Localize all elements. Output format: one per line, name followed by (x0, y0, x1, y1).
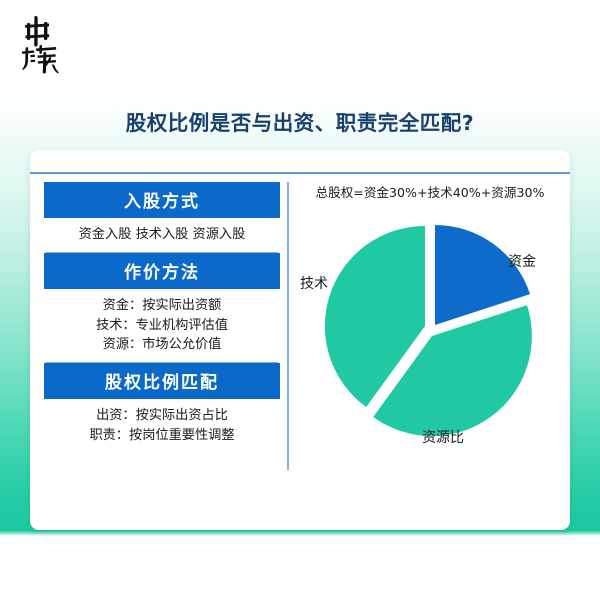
pie-label-capital: 资金 (508, 251, 536, 271)
pie-chart-svg (296, 207, 564, 457)
page-title: 股权比例是否与出资、职责完全匹配? (0, 106, 600, 136)
pie-chart: 资金 技术 资源比 (296, 207, 564, 457)
section-body-equity-match: 出资：按实际出资占比 职责：按岗位重要性调整 (44, 399, 280, 452)
equity-formula: 总股权=资金30%+技术40%+资源30% (296, 182, 564, 201)
right-column: 总股权=资金30%+技术40%+资源30% 资金 技术 资源比 (296, 180, 564, 472)
card-top-rule (30, 172, 570, 174)
section-line: 职责：按岗位重要性调整 (44, 426, 280, 446)
section-body-pricing-method: 资金：按实际出资额 技术：专业机构评估值 资源：市场公允价值 (44, 289, 280, 362)
pie-label-resource: 资源比 (422, 427, 464, 447)
section-body-entry-method: 资金入股 技术入股 资源入股 (44, 218, 280, 252)
pie-label-technology: 技术 (300, 273, 328, 293)
left-column: 入股方式 资金入股 技术入股 资源入股 作价方法 资金：按实际出资额 技术：专业… (44, 182, 280, 474)
brand-logo (14, 14, 74, 76)
section-line: 资源：市场公允价值 (44, 335, 280, 355)
section-header-pricing-method: 作价方法 (44, 253, 280, 289)
slide-canvas: 股权比例是否与出资、职责完全匹配? 入股方式 资金入股 技术入股 资源入股 作价… (0, 0, 600, 600)
section-header-entry-method: 入股方式 (44, 182, 280, 218)
section-line: 资金入股 技术入股 资源入股 (44, 225, 280, 245)
section-line: 技术：专业机构评估值 (44, 316, 280, 336)
section-line: 资金：按实际出资额 (44, 296, 280, 316)
calligraphy-logo-icon (14, 14, 74, 76)
column-divider (287, 182, 289, 470)
section-line: 出资：按实际出资占比 (44, 406, 280, 426)
section-header-equity-match: 股权比例匹配 (44, 363, 280, 399)
